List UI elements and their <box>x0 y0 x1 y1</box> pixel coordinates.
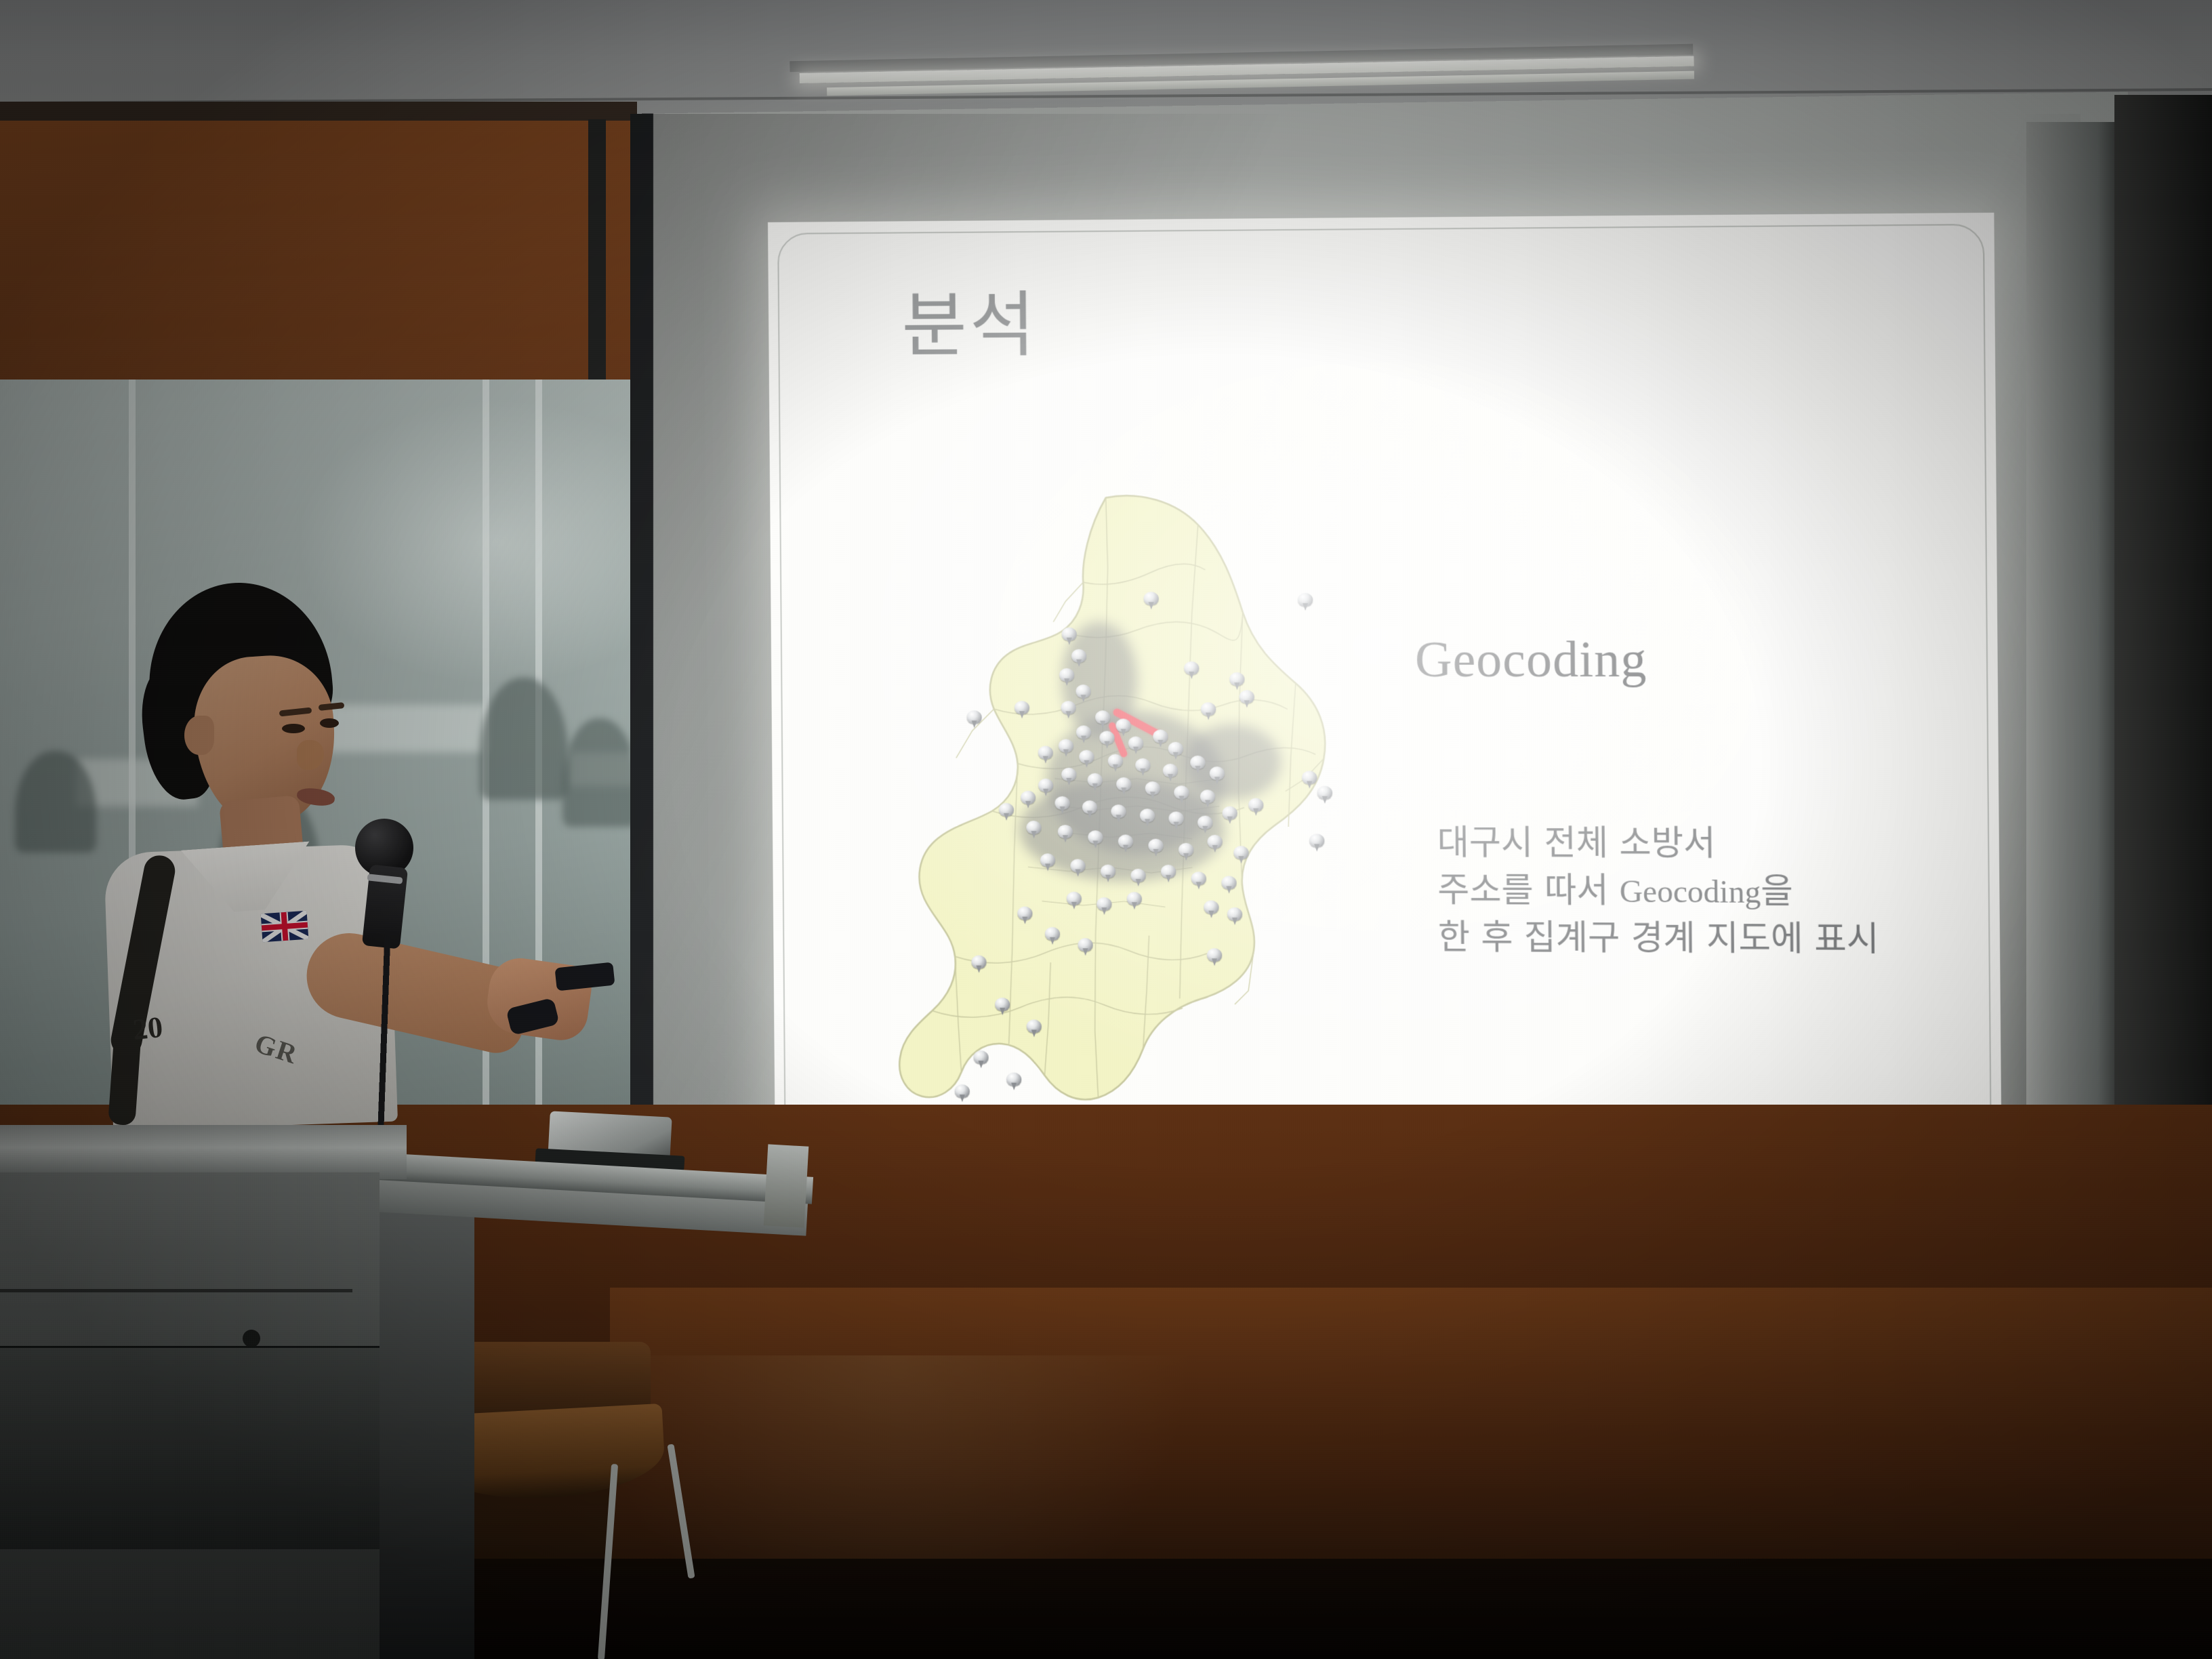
podium-lower-panel <box>0 1346 380 1549</box>
body-line-2-english: Geocoding <box>1620 874 1761 909</box>
presenter: 20 GR <box>81 583 501 1118</box>
eye <box>282 724 305 733</box>
wood-wall-panel-upper <box>0 102 637 386</box>
podium-top <box>0 1125 407 1179</box>
body-line-2-before: 주소를 따서 <box>1437 869 1620 910</box>
body-line-1: 대구시 전체 소방서 <box>1437 819 1878 868</box>
slide-title: 분석 <box>901 288 1038 363</box>
shirt-number: 20 <box>131 1010 164 1047</box>
metal-shelf-end-cap <box>764 1144 809 1227</box>
wall-edge-dark <box>588 119 606 390</box>
podium-knob[interactable] <box>243 1330 260 1347</box>
eye <box>320 718 339 728</box>
union-jack-flag-icon <box>261 911 309 943</box>
photo-scene: 분석 <box>0 0 2212 1659</box>
daegu-boundary-map <box>888 485 1367 1128</box>
projected-slide[interactable]: 분석 <box>768 213 2002 1176</box>
ear <box>184 716 214 755</box>
geocoding-heading: Geocoding <box>1415 631 1647 689</box>
body-line-3: 한 후 집계구 경계 지도에 표시 <box>1438 914 1879 963</box>
body-line-2-after: 을 <box>1761 871 1793 911</box>
podium-seam <box>0 1289 352 1292</box>
body-line-2: 주소를 따서 Geocoding을 <box>1437 866 1879 916</box>
slide-body-text: 대구시 전체 소방서 주소를 따서 Geocoding을 한 후 집계구 경계 … <box>1437 819 1879 964</box>
